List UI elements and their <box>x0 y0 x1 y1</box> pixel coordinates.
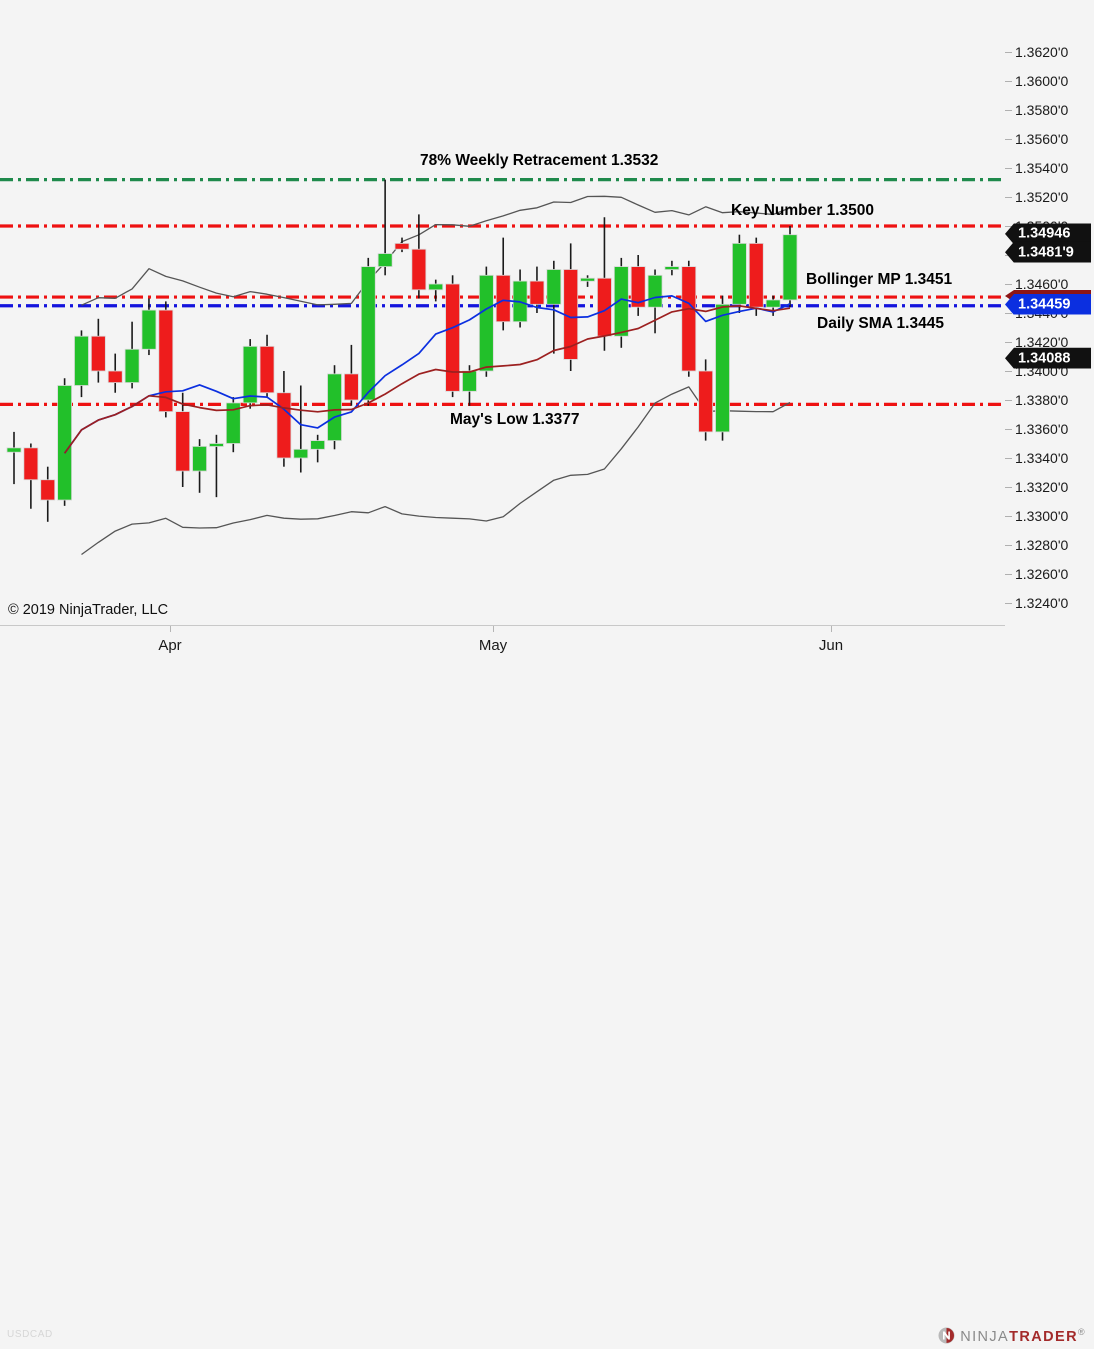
time-tick-mark <box>170 626 171 632</box>
price-tick-mark <box>1005 429 1012 430</box>
candle-body <box>176 412 190 471</box>
candle-body <box>209 444 223 447</box>
candle-body <box>682 267 696 371</box>
price-tick-label: 1.3320'0 <box>1015 479 1068 495</box>
price-tick-label: 1.3540'0 <box>1015 160 1068 176</box>
price-tick-mark <box>1005 342 1012 343</box>
candle-body <box>530 281 544 304</box>
price-tick-label: 1.3360'0 <box>1015 421 1068 437</box>
candle-body <box>277 393 291 458</box>
chart-annotation-label: 78% Weekly Retracement 1.3532 <box>420 152 658 170</box>
logo-trademark: ® <box>1078 1327 1086 1337</box>
price-marker-tag[interactable]: 1.3481'9 <box>1005 242 1091 263</box>
price-tick-mark <box>1005 197 1012 198</box>
candle-body <box>378 254 392 267</box>
candle-body <box>311 441 325 450</box>
price-tick-label: 1.3380'0 <box>1015 392 1068 408</box>
price-tick-mark <box>1005 574 1012 575</box>
candle-body <box>716 304 730 432</box>
copyright-label: © 2019 NinjaTrader, LLC <box>8 602 168 618</box>
price-tick-mark <box>1005 603 1012 604</box>
price-tick-label: 1.3600'0 <box>1015 73 1068 89</box>
chart-annotation-label: Bollinger MP 1.3451 <box>806 271 952 289</box>
candle-body <box>328 374 342 441</box>
instrument-watermark: USDCAD <box>7 1329 53 1340</box>
price-tick-label: 1.3300'0 <box>1015 508 1068 524</box>
time-tick-label: Apr <box>158 637 181 654</box>
price-tick-label: 1.3560'0 <box>1015 131 1068 147</box>
price-axis[interactable]: 1.3620'01.3600'01.3580'01.3560'01.3540'0… <box>1005 0 1094 625</box>
candle-body <box>732 243 746 304</box>
chart-canvas <box>0 0 1005 625</box>
price-tick-mark <box>1005 400 1012 401</box>
price-tick-label: 1.3340'0 <box>1015 450 1068 466</box>
price-tick-label: 1.3460'0 <box>1015 276 1068 292</box>
ninjatrader-chart-window: 3/18/2019 - 5/28/2019 USD/CAD 5/28/19 ◀▌… <box>0 0 1094 685</box>
price-tick-mark <box>1005 545 1012 546</box>
candle-body <box>581 278 595 281</box>
sma-fast-line <box>65 296 790 453</box>
price-tick-mark <box>1005 458 1012 459</box>
candle-body <box>547 270 561 305</box>
logo-suffix: TRADER <box>1009 1329 1078 1345</box>
chart-annotation-label: Daily SMA 1.3445 <box>817 315 944 333</box>
candle-body <box>7 448 21 452</box>
candle-body <box>361 267 375 400</box>
candle-body <box>648 275 662 307</box>
footer-bar: USDCAD NINJATRADER® <box>0 663 1094 685</box>
price-tick-label: 1.3520'0 <box>1015 189 1068 205</box>
price-tick-mark <box>1005 313 1012 314</box>
logo-prefix: NINJA <box>960 1329 1009 1345</box>
price-tick-label: 1.3260'0 <box>1015 566 1068 582</box>
candle-body <box>614 267 628 337</box>
candle-body <box>429 284 443 290</box>
price-marker-tag[interactable]: 1.34088 <box>1005 348 1091 369</box>
candle-body <box>58 386 72 501</box>
candle-body <box>496 275 510 321</box>
candle-body <box>783 235 797 300</box>
price-tick-mark <box>1005 110 1012 111</box>
price-tick-label: 1.3280'0 <box>1015 537 1068 553</box>
price-tick-mark <box>1005 371 1012 372</box>
time-tick-mark <box>831 626 832 632</box>
chart-plot-area[interactable]: 78% Weekly Retracement 1.3532Key Number … <box>0 0 1006 625</box>
candle-body <box>91 336 105 371</box>
price-marker-tag[interactable]: 1.34946 <box>1005 223 1091 244</box>
candle-body <box>665 267 679 270</box>
price-tick-label: 1.3620'0 <box>1015 44 1068 60</box>
candle-body <box>24 448 38 480</box>
candlestick-series <box>7 180 797 522</box>
price-tick-mark <box>1005 284 1012 285</box>
price-tick-mark <box>1005 81 1012 82</box>
time-axis[interactable]: AprMayJun <box>0 625 1005 664</box>
price-tick-label: 1.3580'0 <box>1015 102 1068 118</box>
price-tick-mark <box>1005 516 1012 517</box>
time-tick-mark <box>493 626 494 632</box>
time-tick-label: Jun <box>819 637 843 654</box>
price-tick-mark <box>1005 52 1012 53</box>
time-tick-label: May <box>479 637 507 654</box>
candle-body <box>41 480 55 500</box>
candle-body <box>749 243 763 307</box>
candle-body <box>74 336 88 385</box>
candle-body <box>108 371 122 383</box>
price-tick-mark <box>1005 139 1012 140</box>
chart-annotation-label: Key Number 1.3500 <box>731 202 874 220</box>
price-marker-tag[interactable]: 1.34459 <box>1005 294 1091 315</box>
ninjatrader-logo-text: NINJATRADER® <box>960 1327 1086 1345</box>
candle-body <box>193 446 207 471</box>
candle-body <box>462 371 476 391</box>
candle-body <box>344 374 358 400</box>
price-tick-label: 1.3420'0 <box>1015 334 1068 350</box>
price-tick-label: 1.3240'0 <box>1015 595 1068 611</box>
candle-body <box>479 275 493 371</box>
chart-annotation-label: May's Low 1.3377 <box>450 411 579 429</box>
candle-body <box>260 346 274 392</box>
candle-body <box>395 243 409 249</box>
candle-body <box>125 349 139 382</box>
price-tick-mark <box>1005 226 1012 227</box>
candle-body <box>142 310 156 349</box>
candle-body <box>766 300 780 307</box>
candle-body <box>294 449 308 458</box>
sma-slow-line <box>65 306 790 453</box>
ninjatrader-logo: NINJATRADER® <box>938 1327 1086 1345</box>
price-tick-mark <box>1005 487 1012 488</box>
candle-body <box>699 371 713 432</box>
candle-body <box>412 249 426 290</box>
candle-body <box>446 284 460 391</box>
ninjatrader-logo-icon <box>938 1327 955 1344</box>
price-tick-mark <box>1005 168 1012 169</box>
candle-body <box>243 346 257 403</box>
